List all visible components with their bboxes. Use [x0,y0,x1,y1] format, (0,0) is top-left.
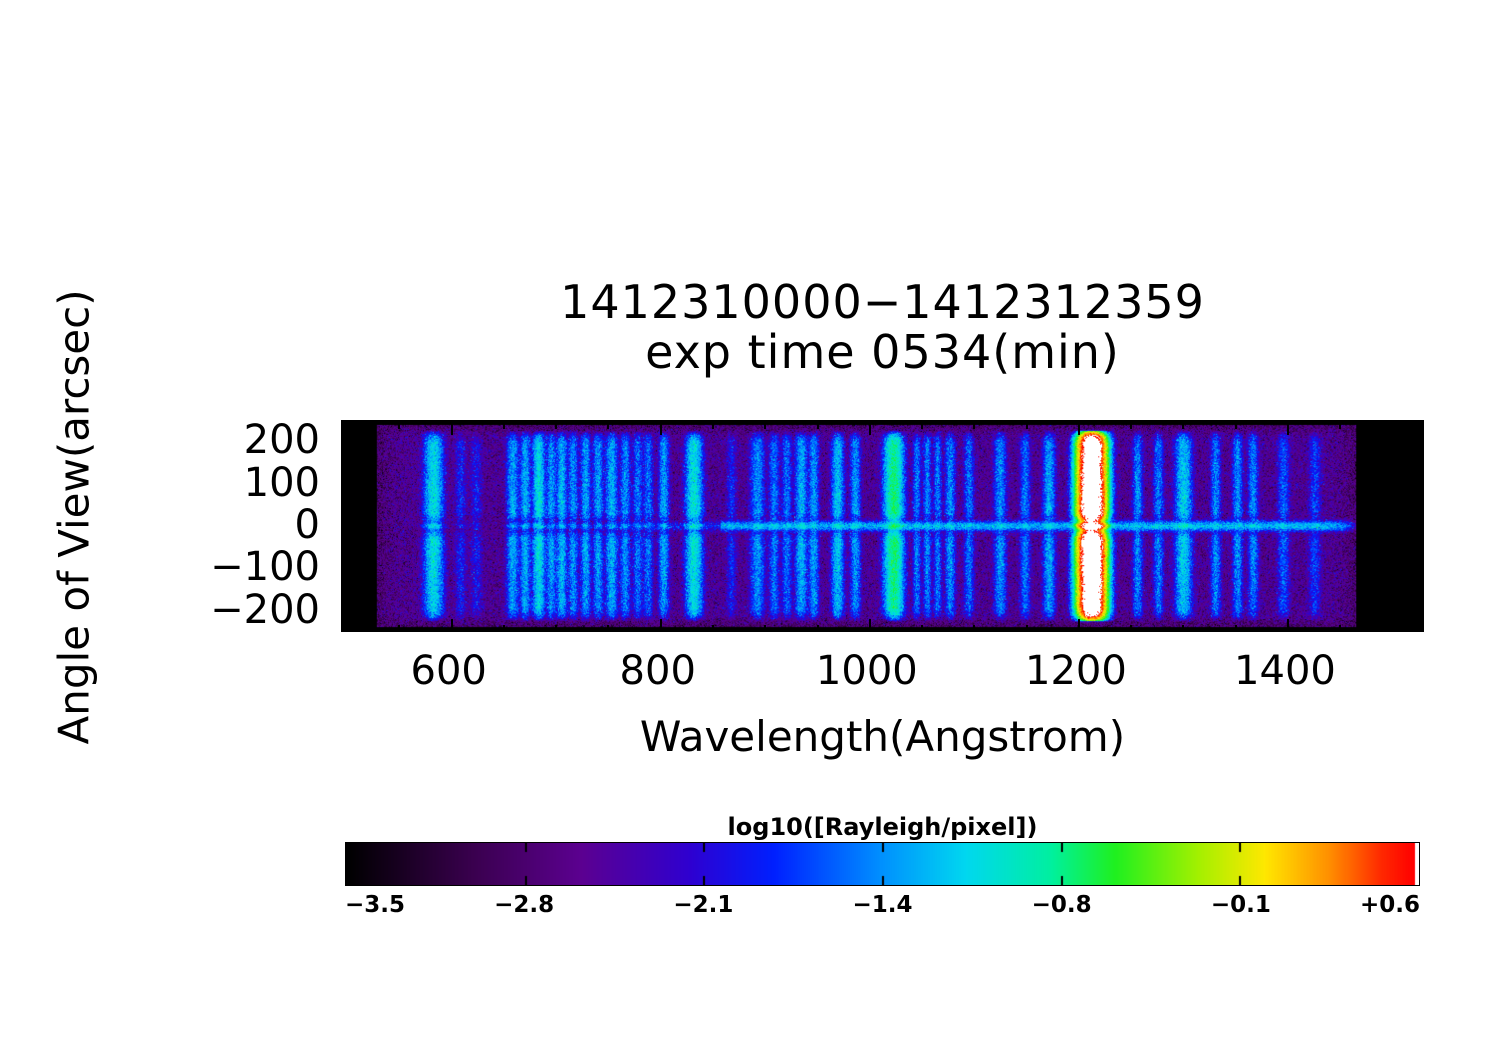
axis-tick [398,422,400,429]
axis-tick [1417,433,1424,435]
axis-tick [1078,422,1080,435]
axis-tick [1130,422,1132,429]
axis-tick [607,422,609,429]
axis-tick [1417,475,1424,477]
y-axis-title: Angle of View(arcsec) [50,305,99,745]
axis-tick [1417,560,1424,562]
axis-tick [451,422,453,435]
axis-tick [1417,623,1424,625]
y-tick-label: −100 [210,547,320,587]
axis-tick [1411,443,1424,445]
figure-root: 1412310000−1412312359 exp time 0534(min)… [0,0,1497,1058]
title-line-observation-id: 1412310000−1412312359 [341,278,1424,328]
axis-tick [973,625,975,632]
axis-tick [1417,517,1424,519]
colorbar-tick-label: −2.1 [673,892,733,918]
figure-title: 1412310000−1412312359 exp time 0534(min) [341,278,1424,377]
axis-tick [869,619,871,632]
y-tick-label: 100 [244,463,320,503]
axis-tick [343,613,356,615]
axis-tick [1182,422,1184,429]
axis-tick [764,422,766,429]
axis-tick [1411,613,1424,615]
axis-tick [1417,454,1424,456]
axis-tick [343,475,350,477]
spectrogram-image [343,422,1422,630]
x-tick-label: 1400 [1234,648,1336,694]
axis-tick [921,422,923,429]
axis-tick [973,422,975,429]
y-tick-label: −200 [210,590,320,630]
axis-tick [817,422,819,429]
axis-tick [1411,570,1424,572]
axis-tick [1417,507,1424,509]
axis-tick [451,619,453,632]
x-axis-title: Wavelength(Angstrom) [341,712,1424,761]
axis-tick [1078,619,1080,632]
axis-tick [1392,625,1394,632]
axis-tick [1417,549,1424,551]
axis-tick [1392,422,1394,429]
x-tick-label: 600 [410,648,486,694]
axis-tick [343,454,350,456]
axis-tick [343,581,350,583]
y-tick-label: 200 [244,420,320,460]
axis-tick [817,625,819,632]
axis-tick [1130,625,1132,632]
axis-tick [1417,592,1424,594]
axis-tick [503,422,505,429]
axis-tick [398,625,400,632]
axis-tick [343,507,350,509]
axis-tick [712,422,714,429]
title-line-exposure-time: exp time 0534(min) [341,328,1424,378]
axis-tick [1411,486,1424,488]
axis-tick [343,560,350,562]
axis-tick [1417,581,1424,583]
axis-tick [1235,422,1237,429]
y-axis-tick-labels: 2001000−100−200 [120,400,320,650]
colorbar-title: log10([Rayleigh/pixel]) [345,813,1420,841]
axis-tick [343,592,350,594]
axis-tick [1417,539,1424,541]
axis-tick [1339,422,1341,429]
axis-tick [343,517,350,519]
axis-tick [555,422,557,429]
axis-tick [660,422,662,435]
axis-tick [555,625,557,632]
x-tick-label: 800 [620,648,696,694]
axis-tick [343,570,356,572]
axis-tick [343,496,350,498]
axis-tick [1026,422,1028,429]
colorbar-tick-label: −0.8 [1032,892,1092,918]
colorbar-tick-label: −1.4 [852,892,912,918]
axis-tick [1182,625,1184,632]
axis-tick [1235,625,1237,632]
colorbar-gradient [346,843,1419,885]
axis-tick [921,625,923,632]
colorbar-tick-label: +0.6 [1360,892,1420,918]
axis-tick [660,619,662,632]
axis-tick [503,625,505,632]
axis-tick [1026,625,1028,632]
x-axis-tick-labels: 600800100012001400 [341,648,1424,704]
axis-tick [869,422,871,435]
axis-tick [1339,625,1341,632]
colorbar-tick-label: −0.1 [1211,892,1271,918]
x-tick-label: 1000 [816,648,918,694]
axis-tick [1411,528,1424,530]
colorbar-tick-label: −3.5 [345,892,405,918]
axis-tick [343,623,350,625]
axis-tick [343,486,356,488]
axis-tick [343,464,350,466]
axis-tick [343,443,356,445]
axis-tick [764,625,766,632]
axis-tick [346,422,348,429]
axis-tick [343,549,350,551]
x-tick-label: 1200 [1025,648,1127,694]
colorbar-tick-labels: −3.5−2.8−2.1−1.4−0.8−0.1+0.6 [345,892,1420,926]
axis-tick [343,528,356,530]
axis-tick [343,539,350,541]
axis-tick [1287,619,1289,632]
axis-tick [1417,602,1424,604]
colorbar [345,842,1420,886]
axis-tick [343,602,350,604]
axis-tick [1287,422,1289,435]
y-tick-label: 0 [295,505,320,545]
axis-tick [1417,496,1424,498]
axis-tick [343,433,350,435]
axis-tick [1417,464,1424,466]
spectrogram-plot-frame [341,420,1424,632]
axis-tick [607,625,609,632]
colorbar-tick-label: −2.8 [494,892,554,918]
axis-tick [346,625,348,632]
axis-tick [712,625,714,632]
